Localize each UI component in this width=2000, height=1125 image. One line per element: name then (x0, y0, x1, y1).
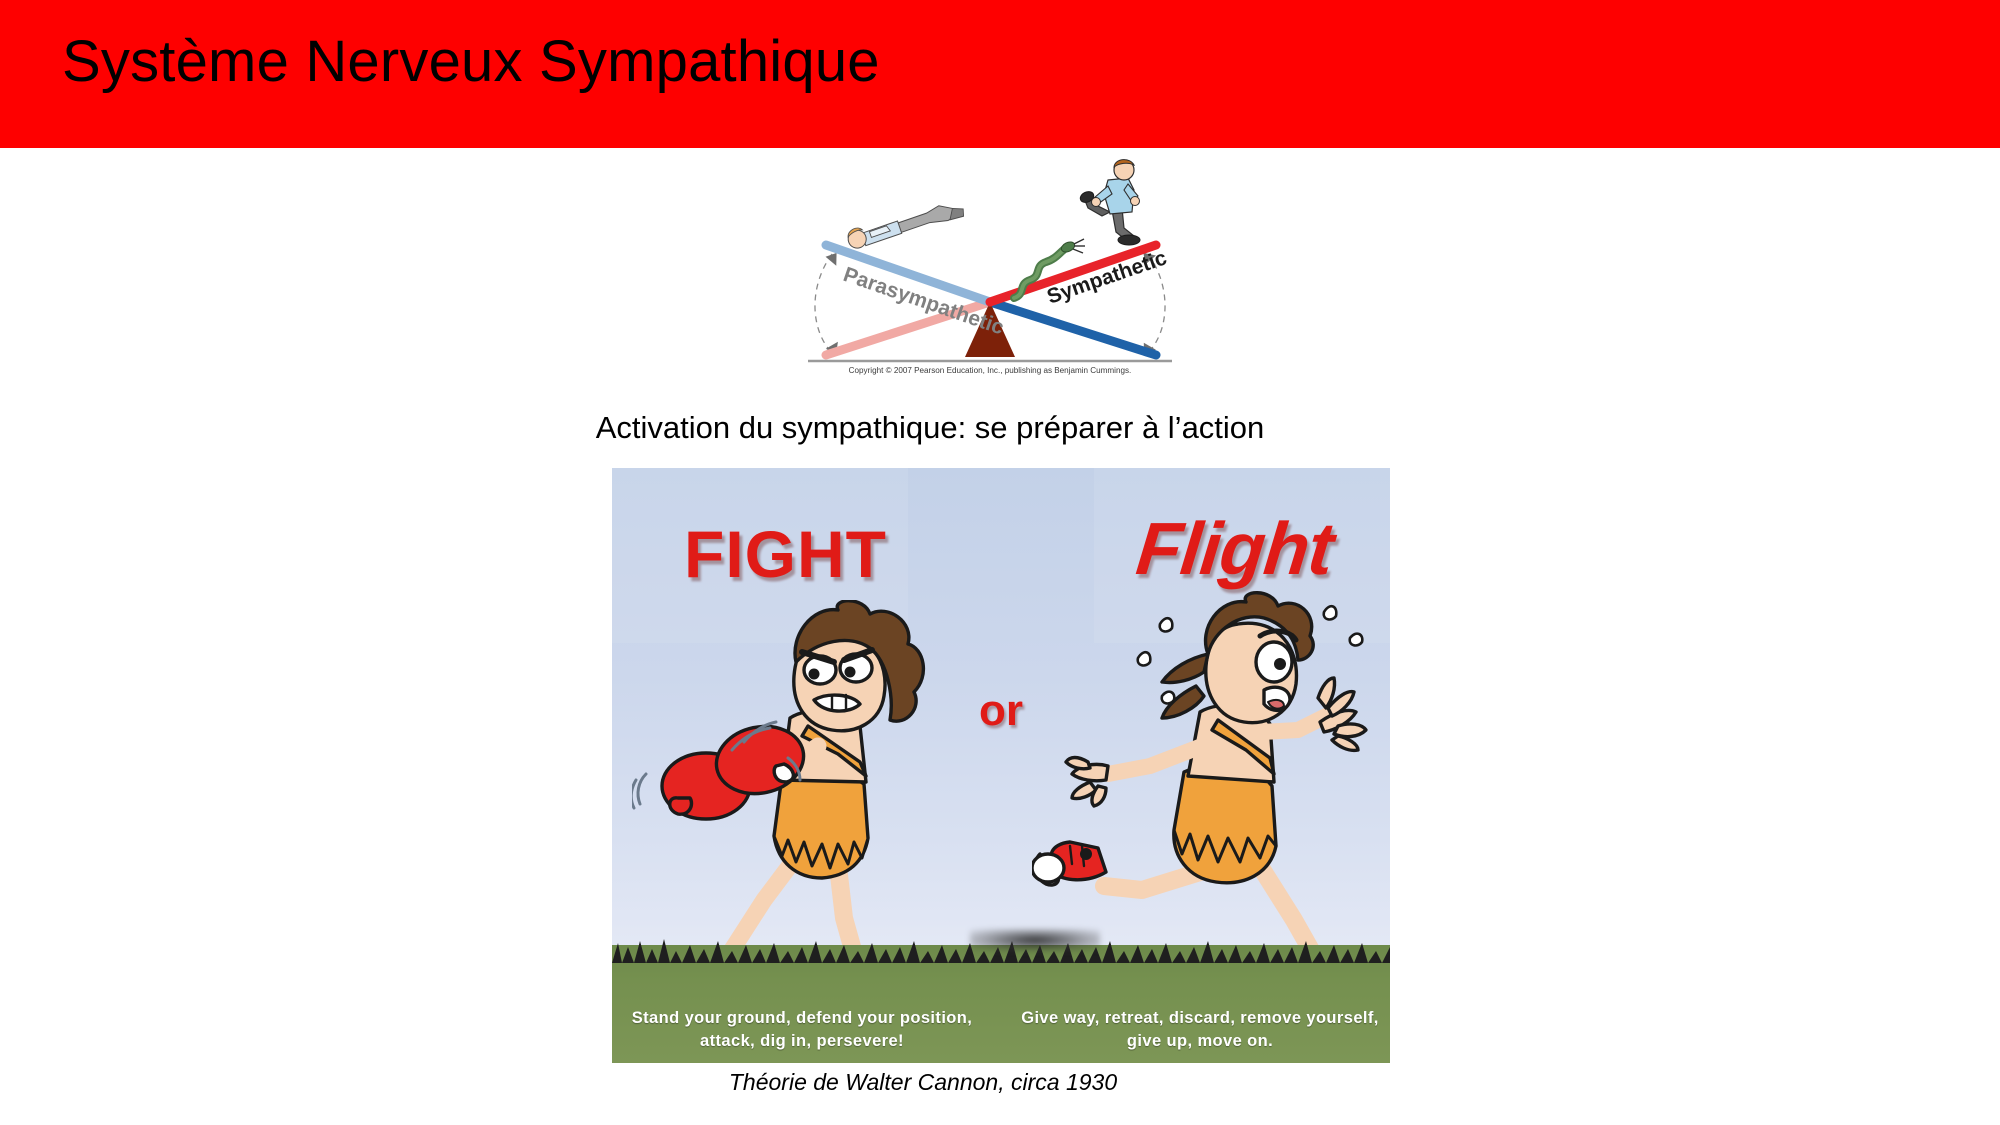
word-fight: FIGHT (684, 516, 887, 592)
activation-caption-text: Activation du sympathique: se préparer à… (596, 410, 1265, 446)
caption-flight: Give way, retreat, discard, remove yours… (1014, 1007, 1386, 1053)
diagram-credit: Copyright © 2007 Pearson Education, Inc.… (802, 366, 1178, 375)
running-man-icon (1079, 160, 1140, 245)
seesaw-svg: Parasympathetic Sympathetic (800, 152, 1180, 367)
theory-attribution: Théorie de Walter Cannon, circa 1930 (0, 1069, 2000, 1096)
motion-blur-streak (970, 929, 1100, 951)
word-flight: Flight (1132, 506, 1336, 591)
caption-fight: Stand your ground, defend your position,… (616, 1007, 988, 1053)
beam-parasympathetic-low (990, 302, 1156, 355)
theory-attribution-text: Théorie de Walter Cannon, circa 1930 (729, 1069, 1117, 1096)
autonomic-balance-diagram: Parasympathetic Sympathetic Copyright © … (800, 152, 1180, 390)
page-title: Système Nerveux Sympathique (62, 26, 880, 98)
word-or: or (979, 686, 1023, 736)
fight-or-flight-image: FIGHT Flight or (612, 468, 1390, 1063)
title-banner: Système Nerveux Sympathique (0, 0, 2000, 148)
reclining-man-icon (845, 193, 965, 254)
activation-caption: Activation du sympathique: se préparer à… (0, 410, 2000, 446)
